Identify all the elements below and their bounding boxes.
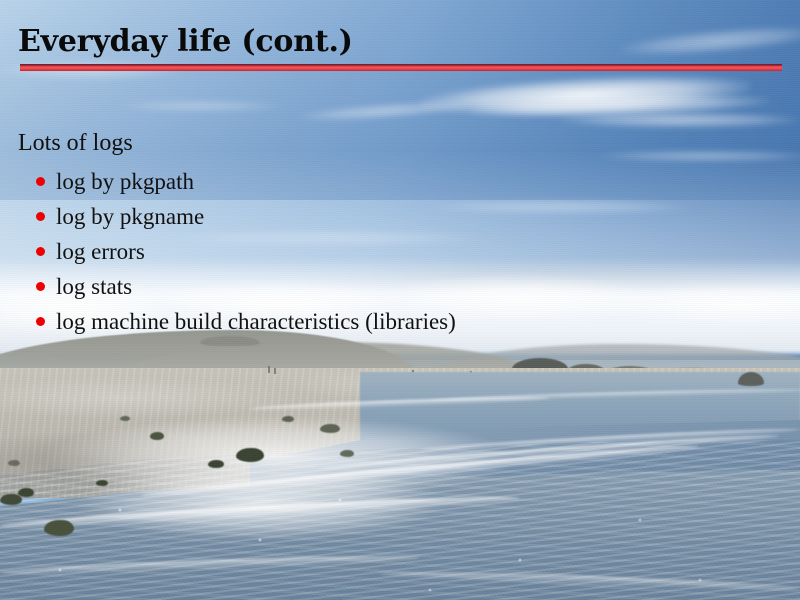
distant-person — [268, 366, 270, 373]
list-item-label: log by pkgpath — [56, 169, 194, 194]
slide: Everyday life (cont.) Lots of logs log b… — [0, 0, 800, 600]
list-item-label: log stats — [56, 274, 132, 299]
seaweed-clump — [236, 448, 264, 462]
seaweed-clump — [96, 480, 108, 486]
list-item: log errors — [36, 234, 778, 269]
water-sparkle — [0, 470, 800, 600]
seaweed-clump — [0, 494, 22, 505]
bullet-dot-icon — [36, 177, 45, 186]
seaweed-clump — [340, 450, 354, 457]
list-item: log by pkgpath — [36, 164, 778, 199]
seaweed-clump — [8, 460, 20, 466]
slide-title: Everyday life (cont.) — [18, 24, 353, 60]
title-underline-rule — [20, 64, 782, 71]
list-item: log machine build characteristics (libra… — [36, 304, 778, 339]
seaweed-clump — [120, 416, 130, 421]
list-item-label: log machine build characteristics (libra… — [56, 309, 456, 334]
bullet-dot-icon — [36, 212, 45, 221]
list-item: log stats — [36, 269, 778, 304]
seaweed-clump — [282, 416, 294, 422]
list-item-label: log errors — [56, 239, 145, 264]
cloud-wisp — [120, 100, 280, 112]
seaweed-clump — [44, 520, 74, 536]
seaweed-clump — [320, 424, 340, 433]
distant-person — [274, 368, 276, 374]
slide-body: Lots of logs log by pkgpath log by pkgna… — [18, 128, 778, 339]
bullet-list: log by pkgpath log by pkgname log errors… — [18, 164, 778, 339]
seaweed-clump — [208, 460, 224, 468]
bullet-dot-icon — [36, 247, 45, 256]
list-item: log by pkgname — [36, 199, 778, 234]
lead-line: Lots of logs — [18, 128, 778, 158]
seaweed-clump — [150, 432, 164, 440]
bullet-dot-icon — [36, 317, 45, 326]
bullet-dot-icon — [36, 282, 45, 291]
cloud-wisp — [560, 112, 800, 128]
list-item-label: log by pkgname — [56, 204, 204, 229]
